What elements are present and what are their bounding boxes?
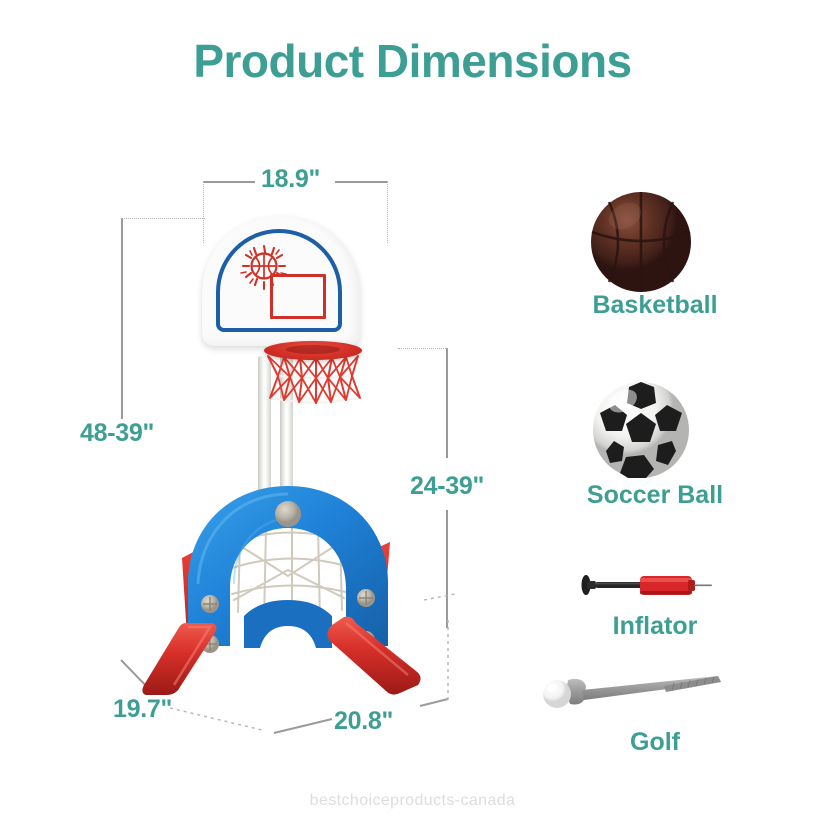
watermark: bestchoiceproducts-canada [0, 792, 825, 810]
basketball-backboard [202, 216, 360, 346]
basketball-splash-graphic [238, 242, 290, 294]
inflator-icon [578, 567, 718, 603]
page-title: Product Dimensions [0, 34, 825, 88]
inflator-label: Inflator [525, 612, 785, 641]
basketball-net [264, 350, 362, 422]
dimline-width-top-right [335, 181, 387, 183]
dimline-height-total [121, 218, 123, 419]
red-base-rails [140, 615, 440, 710]
dimline-width-top-left [203, 181, 255, 183]
basketball-icon [587, 188, 695, 296]
basketball-rim [264, 341, 362, 360]
product-illustration [140, 210, 440, 710]
dimline-height-hoop-upper [446, 348, 448, 458]
soccer-ball-icon [590, 379, 692, 481]
basketball-label: Basketball [525, 291, 785, 320]
dim-label-width-top: 18.9" [261, 165, 320, 194]
dimline-height-hoop-lower [446, 510, 448, 628]
dim-label-width-base: 20.8" [334, 707, 393, 736]
golf-club-icon [540, 672, 740, 720]
infographic-canvas: Product Dimensions 18.9" 48-39" 24-39" 1… [0, 0, 825, 825]
golf-label: Golf [525, 728, 785, 757]
rim-inner-shadow [286, 345, 340, 354]
soccer-ball-label: Soccer Ball [525, 481, 785, 510]
